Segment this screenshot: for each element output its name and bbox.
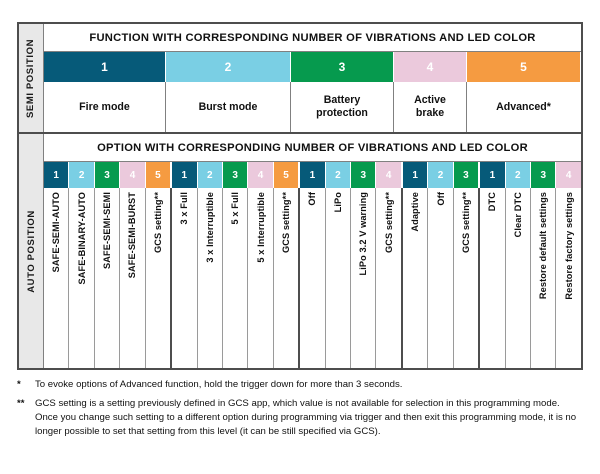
option-name-cell[interactable]: GCS setting** (146, 188, 172, 368)
option-name: SAFE-SEMI-SEMI (102, 192, 112, 269)
footnotes: *To evoke options of Advanced function, … (17, 378, 583, 444)
option-banner: OPTION WITH CORRESPONDING NUMBER OF VIBR… (44, 134, 581, 162)
option-name-row: SAFE-SEMI-AUTOSAFE-BINARY-AUTOSAFE-SEMI-… (44, 188, 581, 368)
option-number-cell[interactable]: 3 (95, 162, 120, 188)
function-number: 5 (520, 60, 527, 74)
option-number: 3 (104, 170, 110, 181)
option-number-cell[interactable]: 3 (531, 162, 556, 188)
option-number-cell[interactable]: 1 (44, 162, 69, 188)
footnote-marker: ** (17, 397, 35, 439)
option-number-cell[interactable]: 5 (274, 162, 300, 188)
semi-position-body: FUNCTION WITH CORRESPONDING NUMBER OF VI… (44, 24, 581, 132)
option-name-cell[interactable]: 3 x Interruptible (198, 188, 223, 368)
auto-position-body: OPTION WITH CORRESPONDING NUMBER OF VIBR… (44, 134, 581, 368)
function-name-line2: protection (316, 107, 368, 119)
option-number-cell[interactable]: 1 (300, 162, 325, 188)
option-name-cell[interactable]: DTC (480, 188, 505, 368)
function-name-row: Fire modeBurst modeBatteryprotectionActi… (44, 82, 581, 132)
option-name: 5 x Full (230, 192, 240, 224)
option-name: Off (307, 192, 317, 206)
option-name-cell[interactable]: Adaptive (403, 188, 428, 368)
option-number: 1 (310, 170, 316, 181)
function-name: Battery (324, 94, 361, 106)
programming-table-page: SEMI POSITION FUNCTION WITH CORRESPONDIN… (0, 0, 600, 474)
option-number-cell[interactable]: 2 (326, 162, 351, 188)
option-name: SAFE-BINARY-AUTO (77, 192, 87, 284)
option-number-cell[interactable]: 3 (223, 162, 248, 188)
option-number: 3 (540, 170, 546, 181)
auto-position-section: AUTO POSITION OPTION WITH CORRESPONDING … (19, 134, 581, 368)
footnote-text: To evoke options of Advanced function, h… (35, 378, 583, 392)
option-name-cell[interactable]: Off (428, 188, 453, 368)
function-number-cell[interactable]: 1 (44, 52, 166, 82)
option-name-cell[interactable]: Restore default settings (531, 188, 556, 368)
footnote-paragraph: To evoke options of Advanced function, h… (35, 378, 583, 392)
option-name: SAFE-SEMI-AUTO (51, 192, 61, 272)
option-name: Adaptive (410, 192, 420, 232)
option-name-cell[interactable]: GCS setting** (376, 188, 402, 368)
option-name-cell[interactable]: GCS setting** (274, 188, 300, 368)
option-number: 2 (438, 170, 444, 181)
option-number: 1 (490, 170, 496, 181)
option-number: 4 (386, 170, 392, 181)
option-name: 5 x Interruptible (256, 192, 266, 263)
semi-position-label-text: SEMI POSITION (26, 38, 37, 117)
option-name-cell[interactable]: 5 x Interruptible (248, 188, 273, 368)
option-name-cell[interactable]: Restore factory settings (556, 188, 580, 368)
function-name-cell[interactable]: Advanced* (467, 82, 580, 132)
function-name: Fire mode (79, 101, 130, 114)
option-name-cell[interactable]: GCS setting** (454, 188, 480, 368)
function-banner: FUNCTION WITH CORRESPONDING NUMBER OF VI… (44, 24, 581, 52)
option-number: 2 (79, 170, 85, 181)
function-number: 3 (339, 60, 346, 74)
footnote-row: **GCS setting is a setting previously de… (17, 397, 583, 439)
function-name-cell[interactable]: Activebrake (394, 82, 467, 132)
option-number-cell[interactable]: 2 (428, 162, 453, 188)
function-name-cell[interactable]: Fire mode (44, 82, 166, 132)
option-number-cell[interactable]: 1 (480, 162, 505, 188)
option-number-cell[interactable]: 1 (172, 162, 197, 188)
option-name: 3 x Full (179, 192, 189, 224)
option-name: 3 x Interruptible (205, 192, 215, 263)
option-number: 1 (412, 170, 418, 181)
option-number: 2 (515, 170, 521, 181)
option-name: LiPo 3.2 V warning (358, 192, 368, 275)
semi-position-section: SEMI POSITION FUNCTION WITH CORRESPONDIN… (19, 24, 581, 134)
option-number: 3 (360, 170, 366, 181)
function-name-wrap: Activebrake (414, 94, 446, 120)
option-name-cell[interactable]: SAFE-SEMI-BURST (120, 188, 145, 368)
option-number-cell[interactable]: 3 (454, 162, 480, 188)
function-name-cell[interactable]: Burst mode (166, 82, 291, 132)
footnote-row: *To evoke options of Advanced function, … (17, 378, 583, 392)
option-number-cell[interactable]: 2 (69, 162, 94, 188)
option-name: LiPo (333, 192, 343, 212)
option-name: DTC (487, 192, 497, 211)
option-name: Off (436, 192, 446, 206)
function-name-line2: brake (416, 107, 444, 119)
function-number: 4 (427, 60, 434, 74)
function-number-cell[interactable]: 3 (291, 52, 394, 82)
option-number: 5 (155, 170, 161, 181)
function-name: Active (414, 94, 446, 106)
option-name-cell[interactable]: LiPo (326, 188, 351, 368)
function-name-cell[interactable]: Batteryprotection (291, 82, 394, 132)
option-number: 4 (258, 170, 264, 181)
option-name-cell[interactable]: SAFE-SEMI-AUTO (44, 188, 69, 368)
footnote-text: GCS setting is a setting previously defi… (35, 397, 583, 439)
option-name-cell[interactable]: 3 x Full (172, 188, 197, 368)
option-number: 2 (335, 170, 341, 181)
option-number: 3 (232, 170, 238, 181)
programming-table: SEMI POSITION FUNCTION WITH CORRESPONDIN… (17, 22, 583, 370)
function-number: 1 (101, 60, 108, 74)
option-name: Clear DTC (513, 192, 523, 237)
option-name-cell[interactable]: Clear DTC (506, 188, 531, 368)
option-name-cell[interactable]: SAFE-SEMI-SEMI (95, 188, 120, 368)
option-number-cell[interactable]: 3 (351, 162, 376, 188)
option-number-cell[interactable]: 2 (506, 162, 531, 188)
option-name: GCS setting** (384, 192, 394, 253)
function-number-cell[interactable]: 2 (166, 52, 291, 82)
option-number-cell[interactable]: 5 (146, 162, 172, 188)
option-name-cell[interactable]: Off (300, 188, 325, 368)
footnote-marker: * (17, 378, 35, 392)
option-name: SAFE-SEMI-BURST (127, 192, 137, 278)
function-number: 2 (225, 60, 232, 74)
option-number-cell[interactable]: 4 (556, 162, 580, 188)
option-number-cell[interactable]: 4 (248, 162, 273, 188)
option-name-cell[interactable]: 5 x Full (223, 188, 248, 368)
option-number-cell[interactable]: 4 (120, 162, 145, 188)
option-name-cell[interactable]: LiPo 3.2 V warning (351, 188, 376, 368)
option-number: 3 (463, 170, 469, 181)
option-name: GCS setting** (461, 192, 471, 253)
option-number-row: 123451234512341231234 (44, 162, 581, 188)
option-number: 1 (182, 170, 188, 181)
option-number: 5 (283, 170, 289, 181)
function-number-cell[interactable]: 5 (467, 52, 580, 82)
function-name-wrap: Batteryprotection (316, 94, 368, 120)
function-number-row: 12345 (44, 52, 581, 82)
option-number-cell[interactable]: 1 (403, 162, 428, 188)
footnote-paragraph: GCS setting is a setting previously defi… (35, 397, 583, 439)
option-name-cell[interactable]: SAFE-BINARY-AUTO (69, 188, 94, 368)
function-name: Burst mode (199, 101, 258, 114)
option-name: GCS setting** (281, 192, 291, 253)
option-name: Restore factory settings (564, 192, 574, 300)
option-number: 4 (566, 170, 572, 181)
auto-position-label-text: AUTO POSITION (26, 210, 37, 293)
option-name: Restore default settings (538, 192, 548, 299)
semi-position-side-label: SEMI POSITION (19, 24, 44, 132)
function-number-cell[interactable]: 4 (394, 52, 467, 82)
function-name: Advanced* (496, 101, 551, 114)
option-name: GCS setting** (153, 192, 163, 253)
option-number-cell[interactable]: 2 (198, 162, 223, 188)
auto-position-side-label: AUTO POSITION (19, 134, 44, 368)
option-number: 2 (207, 170, 213, 181)
option-number-cell[interactable]: 4 (376, 162, 402, 188)
option-number: 1 (53, 170, 59, 181)
option-number: 4 (130, 170, 136, 181)
